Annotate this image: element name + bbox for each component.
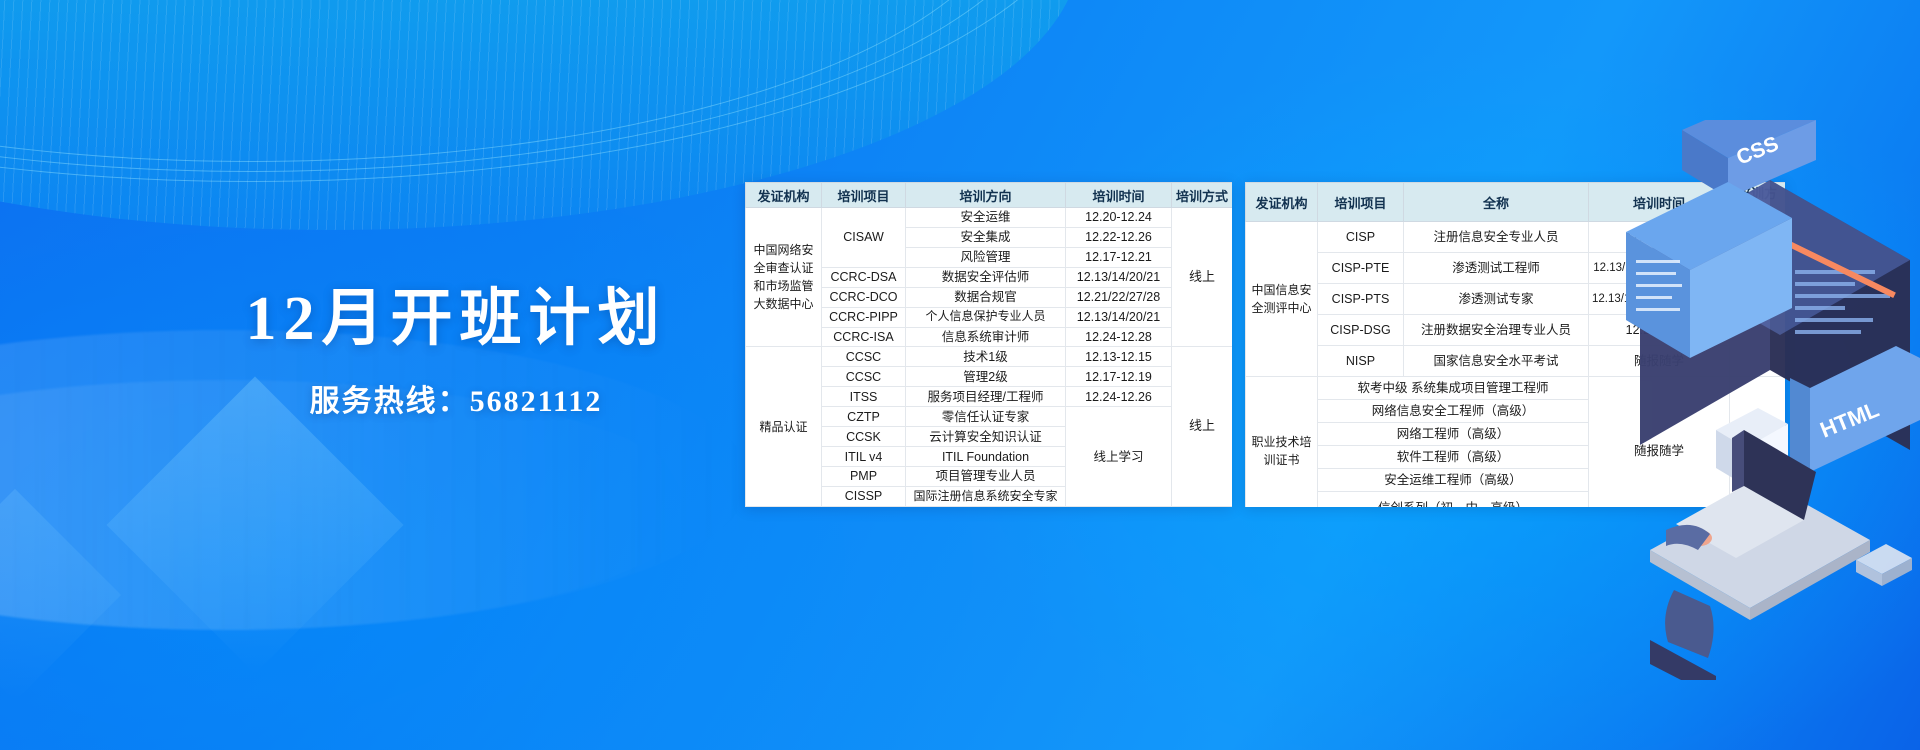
cell-direction: 风险管理: [906, 247, 1066, 267]
cell-fullname: 渗透测试专家: [1404, 284, 1589, 315]
cell-direction: 安全集成: [906, 227, 1066, 247]
cell-time: 12.20-12.24: [1066, 208, 1172, 228]
th-time: 培训时间: [1066, 183, 1172, 208]
cell-time: 12.13/14/20/21: [1066, 307, 1172, 327]
cell-fullname: 网络信息安全工程师（高级）: [1318, 400, 1589, 423]
cell-fullname: 注册信息安全专业人员: [1404, 222, 1589, 253]
th-mode: 培训方式: [1172, 183, 1233, 208]
cell-fullname: 信创系列（初、中、高级）: [1318, 492, 1589, 508]
cell-time: 12.24-12.28: [1066, 327, 1172, 347]
cell-direction: 项目管理专业人员: [906, 466, 1066, 486]
cell-project: ITIL v4: [822, 447, 906, 467]
cell-fullname: 软件工程师（高级）: [1318, 446, 1589, 469]
cell-project: CISAW: [822, 208, 906, 268]
th-fullname: 全称: [1404, 183, 1589, 222]
cell-project: ITSS: [822, 387, 906, 407]
cell-direction: 管理2级: [906, 367, 1066, 387]
th-project: 培训项目: [1318, 183, 1404, 222]
cell-time: 线上学习: [1066, 407, 1172, 507]
cell-project: CISP-DSG: [1318, 315, 1404, 346]
cell-direction: 安全运维: [906, 208, 1066, 228]
cell-direction: 云计算安全知识认证: [906, 427, 1066, 447]
cell-direction: 服务项目经理/工程师: [906, 387, 1066, 407]
cell-time: 12.21/22/27/28: [1066, 287, 1172, 307]
cell-project: CCRC-DSA: [822, 267, 906, 287]
cell-mode: 线上: [1172, 347, 1233, 507]
cell-project: CISP: [1318, 222, 1404, 253]
cell-project: CCSC: [822, 367, 906, 387]
cell-time: 12.13-12.15: [1066, 347, 1172, 367]
cell-direction: 技术1级: [906, 347, 1066, 367]
hotline-text: 服务热线：56821112: [206, 376, 706, 420]
plan-table-1-card: 发证机构 培训项目 培训方向 培训时间 培训方式 中国网络安全审查认证和市场监管…: [745, 182, 1232, 507]
cell-fullname: 注册数据安全治理专业人员: [1404, 315, 1589, 346]
page-title: 12月开班计划: [206, 288, 706, 350]
css-badge: CSS: [1682, 120, 1816, 198]
cell-time: 12.17-12.21: [1066, 247, 1172, 267]
table-header-row: 发证机构 培训项目 培训方向 培训时间 培训方式: [746, 183, 1233, 208]
cell-fullname: 软考中级 系统集成项目管理工程师: [1318, 377, 1589, 400]
banner-stage: 12月开班计划 服务热线：56821112 发证机构 培训项目 培训方向 培训时…: [0, 0, 1920, 750]
cell-project: CCRC-PIPP: [822, 307, 906, 327]
cell-project: NISP: [1318, 346, 1404, 377]
th-org: 发证机构: [1246, 183, 1318, 222]
cell-project: CISP-PTE: [1318, 253, 1404, 284]
cell-org: 中国网络安全审查认证和市场监管大数据中心: [746, 208, 822, 347]
cell-fullname: 国家信息安全水平考试: [1404, 346, 1589, 377]
cell-time: 12.17-12.19: [1066, 367, 1172, 387]
cell-org: 精品认证: [746, 347, 822, 507]
table-row: 中国网络安全审查认证和市场监管大数据中心 CISAW 安全运维 12.20-12…: [746, 208, 1233, 228]
cell-direction: 国际注册信息系统安全专家: [906, 486, 1066, 506]
cell-project: CZTP: [822, 407, 906, 427]
cell-project: PMP: [822, 466, 906, 486]
cell-time: 12.13/14/20/21: [1066, 267, 1172, 287]
cell-project: CCRC-ISA: [822, 327, 906, 347]
th-project: 培训项目: [822, 183, 906, 208]
cell-direction: 数据合规官: [906, 287, 1066, 307]
cell-direction: ITIL Foundation: [906, 447, 1066, 467]
illustration-svg: CSS HTML: [1620, 120, 1920, 680]
cell-fullname: 渗透测试工程师: [1404, 253, 1589, 284]
cell-project: CCSK: [822, 427, 906, 447]
isometric-illustration: CSS HTML: [1620, 120, 1920, 680]
headline-block: 12月开班计划 服务热线：56821112: [206, 288, 706, 420]
cell-mode: 线上: [1172, 208, 1233, 347]
cell-project: CCSC: [822, 347, 906, 367]
cell-org: 中国信息安全测评中心: [1246, 222, 1318, 377]
th-org: 发证机构: [746, 183, 822, 208]
cell-direction: 零信任认证专家: [906, 407, 1066, 427]
table-row: 精品认证 CCSC 技术1级 12.13-12.15 线上: [746, 347, 1233, 367]
cell-time: 12.24-12.26: [1066, 387, 1172, 407]
cell-direction: 信息系统审计师: [906, 327, 1066, 347]
cell-org: 职业技术培训证书: [1246, 377, 1318, 508]
cell-fullname: 安全运维工程师（高级）: [1318, 469, 1589, 492]
cell-direction: 个人信息保护专业人员: [906, 307, 1066, 327]
cell-project: CISP-PTS: [1318, 284, 1404, 315]
th-direction: 培训方向: [906, 183, 1066, 208]
cell-direction: 数据安全评估师: [906, 267, 1066, 287]
cell-project: CCRC-DCO: [822, 287, 906, 307]
plan-table-1: 发证机构 培训项目 培训方向 培训时间 培训方式 中国网络安全审查认证和市场监管…: [745, 182, 1232, 507]
cell-time: 12.22-12.26: [1066, 227, 1172, 247]
cell-project: CISSP: [822, 486, 906, 506]
cell-fullname: 网络工程师（高级）: [1318, 423, 1589, 446]
